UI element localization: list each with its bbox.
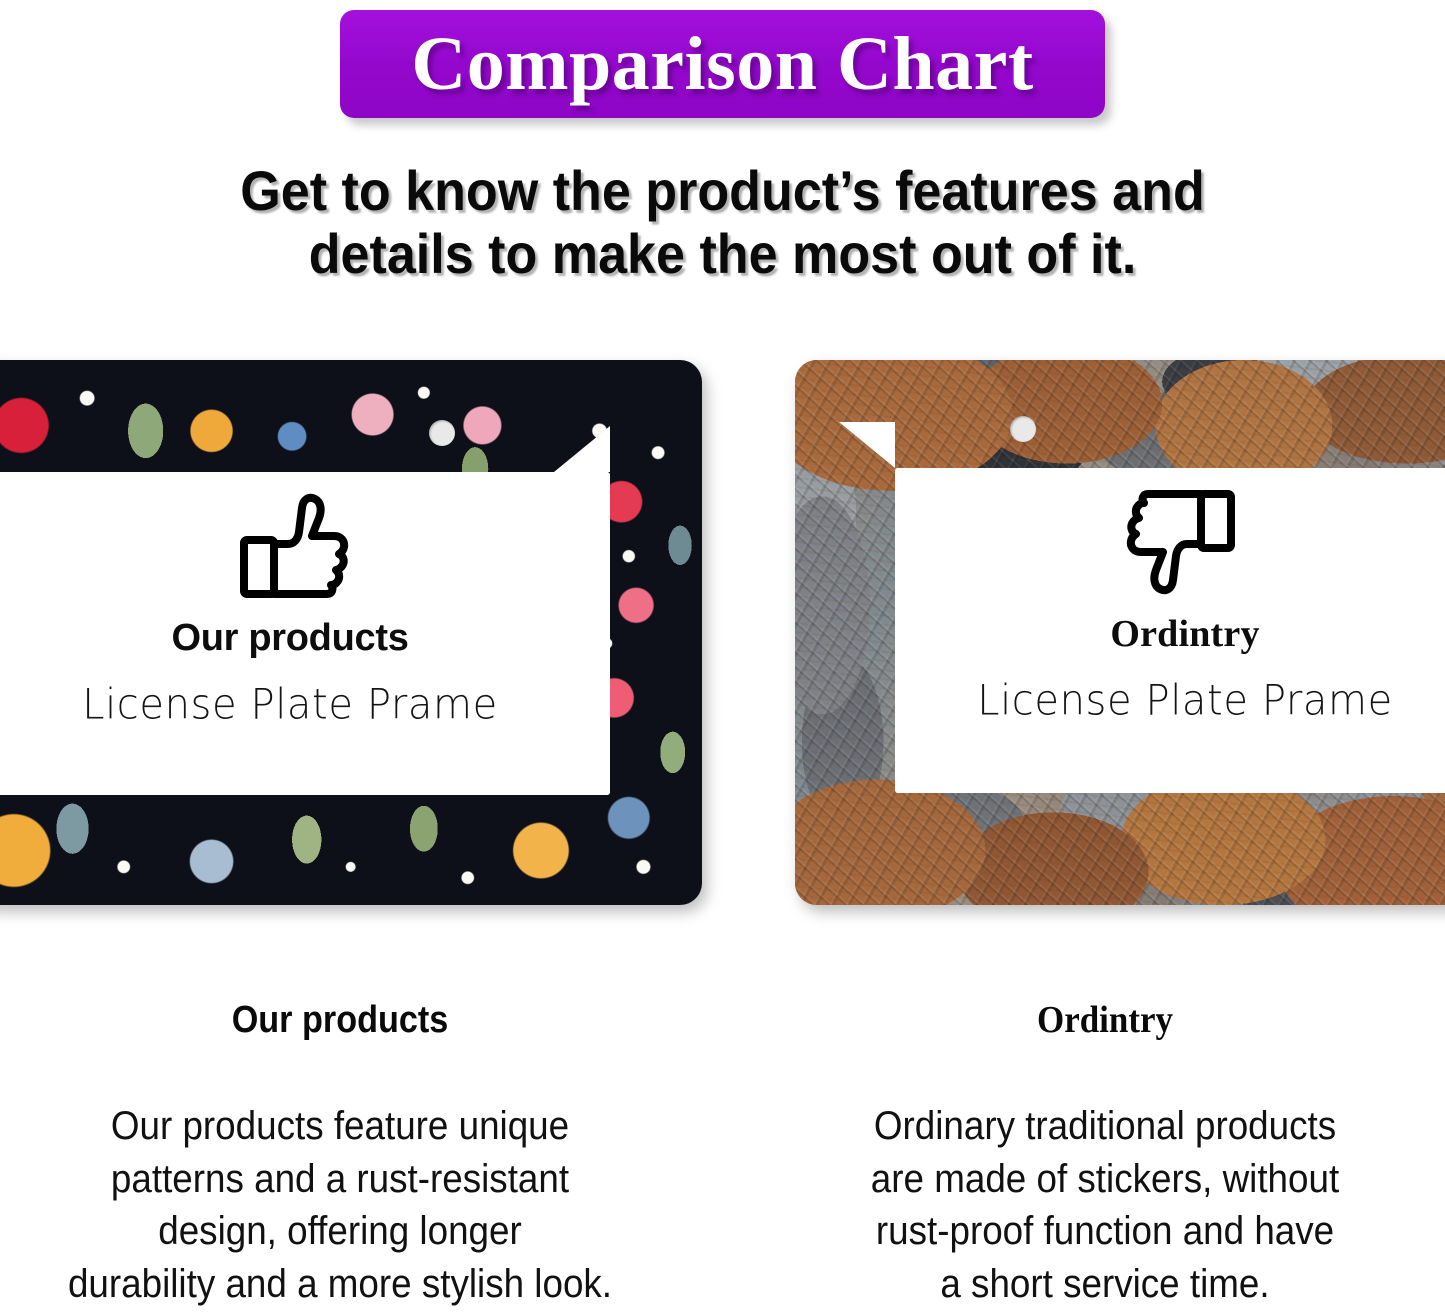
our-product-frame-card: Our products License Plate Prame: [0, 360, 702, 905]
license-plate-frame-floral: Our products License Plate Prame: [0, 360, 702, 905]
description-line: rust-proof function and have: [820, 1205, 1390, 1258]
ordinary-product-frame-card: Ordintry License Plate Prame: [795, 360, 1445, 905]
mounting-hole-icon: [1010, 416, 1036, 442]
description-line: durability and a more stylish look.: [55, 1258, 625, 1311]
plate-title-ordintry: Ordintry: [1110, 615, 1259, 653]
plate-content-left: Our products License Plate Prame: [0, 472, 610, 795]
plate-content-right: Ordintry License Plate Prame: [895, 468, 1445, 793]
thumbs-down-icon: [1126, 486, 1244, 603]
title-banner: Comparison Chart: [340, 10, 1105, 118]
plate-title-our-products: Our products: [171, 619, 408, 657]
our-products-description-column: Our products Our products feature unique…: [30, 1000, 650, 1311]
plate-corner-bevel-left: [554, 426, 610, 472]
thumbs-up-icon: [231, 490, 349, 607]
description-line: are made of stickers, without: [820, 1153, 1390, 1206]
ordintry-description-column: Ordintry Ordinary traditional products a…: [795, 1000, 1415, 1311]
description-line: Ordinary traditional products: [820, 1100, 1390, 1153]
description-line: a short service time.: [820, 1258, 1390, 1311]
our-products-heading: Our products: [61, 1000, 619, 1042]
page-title: Comparison Chart: [411, 26, 1033, 102]
description-line: Our products feature unique: [55, 1100, 625, 1153]
mounting-hole-icon: [429, 420, 455, 446]
our-products-description: Our products feature unique patterns and…: [55, 1100, 625, 1311]
license-plate-frame-rusted: Ordintry License Plate Prame: [795, 360, 1445, 905]
page-subtitle: Get to know the product’s features and d…: [51, 160, 1395, 285]
plate-subtitle-ordintry: License Plate Prame: [977, 680, 1393, 722]
description-line: design, offering longer: [55, 1205, 625, 1258]
plate-corner-bevel-right: [839, 422, 895, 468]
subtitle-line-2: details to make the most out of it.: [51, 223, 1395, 286]
ordintry-heading: Ordintry: [820, 1000, 1390, 1042]
description-line: patterns and a rust-resistant: [55, 1153, 625, 1206]
subtitle-line-1: Get to know the product’s features and: [51, 160, 1395, 223]
comparison-chart-page: Comparison Chart Get to know the product…: [0, 0, 1445, 1314]
plate-subtitle-our-products: License Plate Prame: [82, 684, 498, 726]
ordintry-description: Ordinary traditional products are made o…: [820, 1100, 1390, 1311]
